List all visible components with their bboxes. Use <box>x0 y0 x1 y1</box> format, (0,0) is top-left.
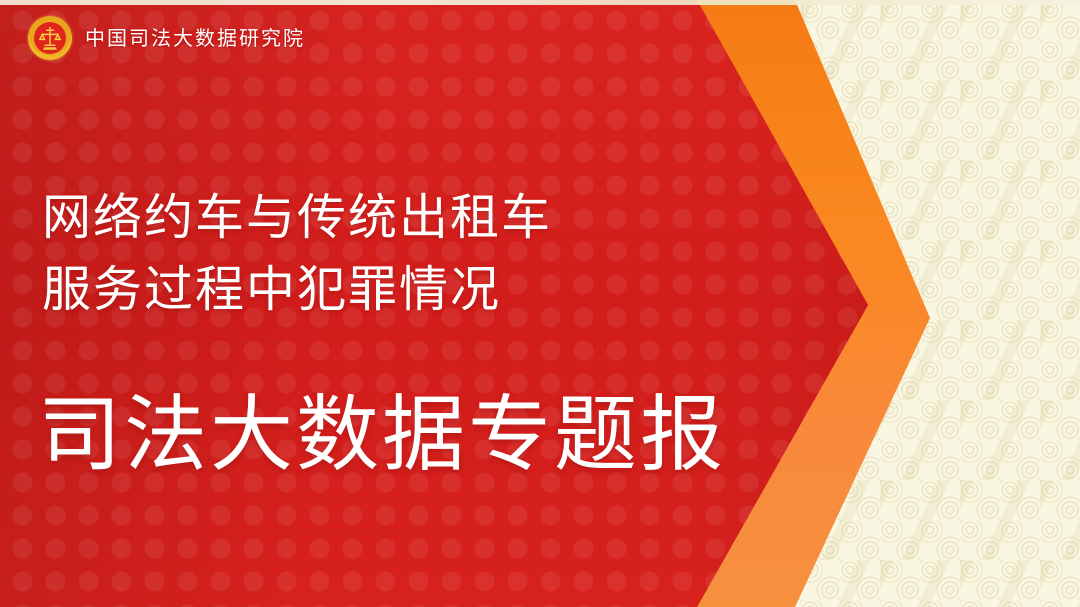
cover-subtitle-line-2: 服务过程中犯罪情况 <box>42 254 552 326</box>
cover-headline: 司法大数据专题报 <box>38 383 726 487</box>
brand-lockup: 中国司法大数据研究院 <box>28 16 305 60</box>
organization-name: 中国司法大数据研究院 <box>85 28 305 48</box>
top-edge-strip <box>0 0 1080 5</box>
report-cover-slide: 中国司法大数据研究院 网络约车与传统出租车 服务过程中犯罪情况 司法大数据专题报 <box>0 0 1080 607</box>
cover-subtitle-line-1: 网络约车与传统出租车 <box>42 182 552 254</box>
emblem-scales-glyph <box>38 25 62 51</box>
cover-subtitle: 网络约车与传统出租车 服务过程中犯罪情况 <box>42 182 552 326</box>
chinese-court-emblem-icon <box>28 16 72 60</box>
